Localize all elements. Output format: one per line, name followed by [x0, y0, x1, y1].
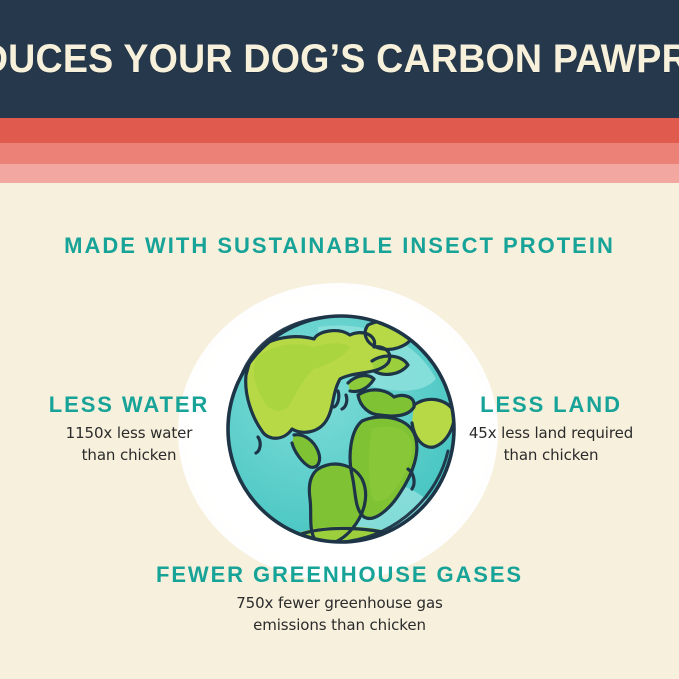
- callout-greenhouse-gases-heading: FEWER GREENHOUSE GASES: [0, 561, 679, 588]
- callout-less-water-subtext-line-1: 1150x less water: [10, 423, 248, 445]
- callout-less-water-subtext-line-2: than chicken: [10, 445, 248, 467]
- callout-less-land: LESS LAND 45x less land required than ch…: [432, 391, 670, 467]
- stripe-pink: [0, 164, 679, 183]
- callout-greenhouse-gases-subtext: 750x fewer greenhouse gas emissions than…: [0, 593, 679, 637]
- earth-globe-icon: [222, 309, 460, 551]
- stripe-red: [0, 118, 679, 143]
- callout-less-land-subtext: 45x less land required than chicken: [432, 423, 670, 467]
- callout-insect-protein: MADE WITH SUSTAINABLE INSECT PROTEIN: [0, 233, 679, 260]
- callout-less-land-subtext-line-2: than chicken: [432, 445, 670, 467]
- body-area: MADE WITH SUSTAINABLE INSECT PROTEIN: [0, 183, 679, 679]
- callout-greenhouse-gases-subtext-line-1: 750x fewer greenhouse gas: [0, 593, 679, 615]
- callout-greenhouse-gases: FEWER GREENHOUSE GASES 750x fewer greenh…: [0, 561, 679, 637]
- callout-less-land-subtext-line-1: 45x less land required: [432, 423, 670, 445]
- callout-less-water: LESS WATER 1150x less water than chicken: [10, 391, 248, 467]
- callout-greenhouse-gases-subtext-line-2: emissions than chicken: [0, 615, 679, 637]
- callout-less-land-heading: LESS LAND: [432, 391, 670, 418]
- page-title: REDUCES YOUR DOG’S CARBON PAWPRINT: [0, 39, 679, 79]
- callout-insect-protein-heading: MADE WITH SUSTAINABLE INSECT PROTEIN: [0, 233, 679, 260]
- callout-less-water-subtext: 1150x less water than chicken: [10, 423, 248, 467]
- infographic-root: REDUCES YOUR DOG’S CARBON PAWPRINT MADE …: [0, 0, 679, 679]
- callout-less-water-heading: LESS WATER: [10, 391, 248, 418]
- header-band: REDUCES YOUR DOG’S CARBON PAWPRINT: [0, 0, 679, 118]
- stripe-salmon: [0, 143, 679, 164]
